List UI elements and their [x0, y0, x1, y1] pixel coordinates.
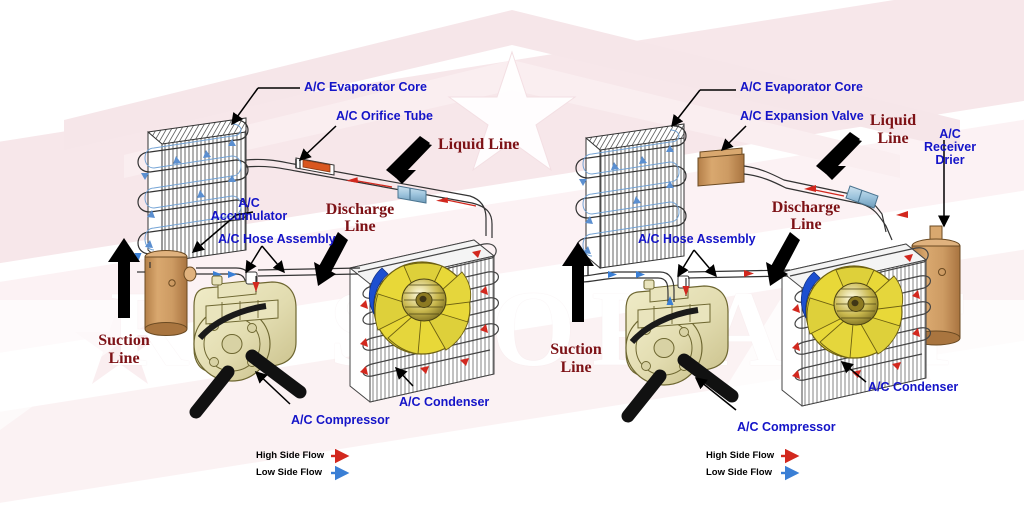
- label-right-liquid-line-1: Liquid: [862, 112, 924, 129]
- legend-left-low-side: Low Side Flow: [256, 467, 322, 478]
- label-right-receiver-drier-3: Drier: [918, 154, 982, 168]
- label-left-liquid-line: Liquid Line: [438, 136, 519, 153]
- label-left-evaporator-core: A/C Evaporator Core: [304, 81, 427, 95]
- label-right-liquid-line-2: Line: [862, 130, 924, 147]
- label-left-suction-line-2: Line: [78, 350, 170, 367]
- left-condenser: [350, 240, 498, 402]
- label-left-discharge-line-2: Line: [316, 218, 404, 235]
- label-right-discharge-line-1: Discharge: [762, 199, 850, 216]
- label-left-suction-line-1: Suction: [78, 332, 170, 349]
- right-expansion-valve: [698, 148, 744, 186]
- label-right-suction-line-1: Suction: [530, 341, 622, 358]
- label-left-hose-assembly: A/C Hose Assembly: [218, 233, 336, 247]
- right-line-coupling: [846, 186, 878, 208]
- label-right-hose-assembly: A/C Hose Assembly: [638, 233, 756, 247]
- label-left-compressor: A/C Compressor: [291, 414, 390, 428]
- label-right-condenser: A/C Condenser: [868, 381, 958, 395]
- label-right-expansion-valve: A/C Expansion Valve: [740, 110, 864, 124]
- label-left-discharge-line-1: Discharge: [316, 201, 404, 218]
- diagram-artwork: [0, 0, 1024, 526]
- label-right-suction-line-2: Line: [530, 359, 622, 376]
- label-left-orifice-tube: A/C Orifice Tube: [336, 110, 433, 124]
- label-right-compressor: A/C Compressor: [737, 421, 836, 435]
- legend-left-high-side: High Side Flow: [256, 450, 324, 461]
- label-left-condenser: A/C Condenser: [399, 396, 489, 410]
- left-accumulator: [137, 251, 196, 336]
- legend-right-low-side: Low Side Flow: [706, 467, 772, 478]
- left-compressor: [194, 272, 300, 412]
- label-left-accumulator-line2: Accumulator: [207, 210, 291, 224]
- right-evaporator-core: [576, 124, 686, 276]
- legend-right-high-side: High Side Flow: [706, 450, 774, 461]
- label-right-evaporator-core: A/C Evaporator Core: [740, 81, 863, 95]
- label-right-discharge-line-2: Line: [762, 216, 850, 233]
- ac-system-diagram: RT STOP AUT: [0, 0, 1024, 526]
